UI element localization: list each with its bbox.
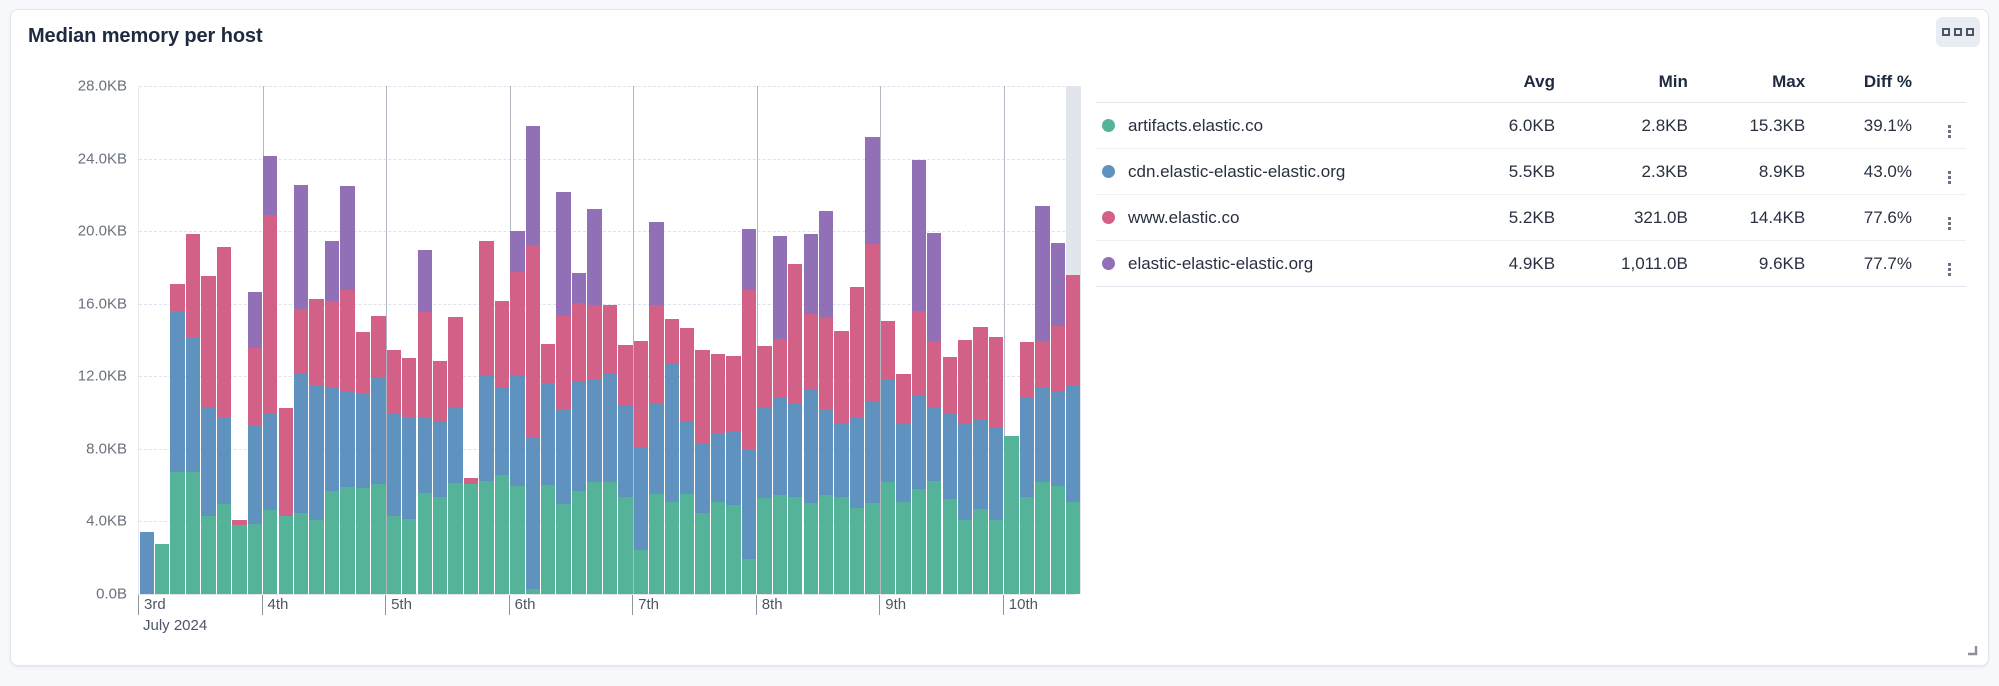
bar-segment[interactable] xyxy=(1035,387,1049,483)
drag-handle-icon[interactable] xyxy=(1948,171,1951,184)
bar-segment[interactable] xyxy=(865,137,879,244)
bar-segment[interactable] xyxy=(356,488,370,594)
bar-segment[interactable] xyxy=(371,316,385,378)
bar-segment[interactable] xyxy=(170,472,184,594)
bar-stack[interactable] xyxy=(973,86,987,594)
bar-stack[interactable] xyxy=(1066,86,1080,594)
bar-stack[interactable] xyxy=(1004,86,1018,594)
bar-segment[interactable] xyxy=(989,520,1003,594)
legend-row-grip[interactable] xyxy=(1926,103,1966,149)
bar-segment[interactable] xyxy=(804,314,818,389)
bar-segment[interactable] xyxy=(572,381,586,491)
series-diff-value: 77.7% xyxy=(1819,241,1926,287)
bar-segment[interactable] xyxy=(865,244,879,402)
bar-segment[interactable] xyxy=(912,160,926,311)
bar-segment[interactable] xyxy=(757,346,771,408)
legend-col-grip xyxy=(1926,72,1966,103)
table-row[interactable]: www.elastic.co5.2KB321.0B14.4KB77.6% xyxy=(1096,195,1966,241)
bar-segment[interactable] xyxy=(464,478,478,484)
bar-segment[interactable] xyxy=(881,321,895,379)
bar-segment[interactable] xyxy=(711,354,725,433)
bar-segment[interactable] xyxy=(587,379,601,483)
bar-segment[interactable] xyxy=(556,192,570,316)
bar-segment[interactable] xyxy=(479,481,493,594)
bar-segment[interactable] xyxy=(340,487,354,594)
bar-segment[interactable] xyxy=(989,428,1003,519)
bar-segment[interactable] xyxy=(479,241,493,376)
bar-segment[interactable] xyxy=(248,348,262,425)
bar-stack[interactable] xyxy=(927,86,941,594)
legend-series-cell[interactable]: www.elastic.co xyxy=(1096,195,1465,241)
bar-segment[interactable] xyxy=(448,317,462,408)
legend-series-cell[interactable]: artifacts.elastic.co xyxy=(1096,103,1465,149)
bar-stack[interactable] xyxy=(711,86,725,594)
bar-segment[interactable] xyxy=(618,497,632,594)
bar-stack[interactable] xyxy=(155,86,169,594)
bar-stack[interactable] xyxy=(294,86,308,594)
legend-col-max[interactable]: Max xyxy=(1702,72,1819,103)
bar-stack[interactable] xyxy=(418,86,432,594)
bar-segment[interactable] xyxy=(309,385,323,521)
bar-segment[interactable] xyxy=(556,316,570,409)
bar-segment[interactable] xyxy=(248,425,262,524)
bar-segment[interactable] xyxy=(819,410,833,495)
bar-segment[interactable] xyxy=(418,417,432,493)
bar-segment[interactable] xyxy=(757,498,771,594)
bar-segment[interactable] xyxy=(387,413,401,516)
bar-segment[interactable] xyxy=(665,364,679,502)
bar-segment[interactable] xyxy=(788,264,802,402)
bar-segment[interactable] xyxy=(819,211,833,316)
bar-segment[interactable] xyxy=(1035,206,1049,341)
bar-segment[interactable] xyxy=(464,484,478,594)
bar-segment[interactable] xyxy=(912,489,926,594)
bar-segment[interactable] xyxy=(279,516,293,594)
bar-stack[interactable] xyxy=(201,86,215,594)
bar-segment[interactable] xyxy=(927,233,941,341)
bar-segment[interactable] xyxy=(248,292,262,348)
legend-col-diff[interactable]: Diff % xyxy=(1819,72,1926,103)
y-axis-tick-label: 16.0KB xyxy=(78,295,127,312)
bar-segment[interactable] xyxy=(587,305,601,379)
bar-stack[interactable] xyxy=(742,86,756,594)
bar-segment[interactable] xyxy=(804,234,818,314)
bar-stack[interactable] xyxy=(217,86,231,594)
bar-segment[interactable] xyxy=(711,433,725,502)
legend-row-grip[interactable] xyxy=(1926,149,1966,195)
bar-segment[interactable] xyxy=(958,424,972,520)
bar-stack[interactable] xyxy=(572,86,586,594)
bar-segment[interactable] xyxy=(804,503,818,594)
bar-segment[interactable] xyxy=(680,421,694,494)
bar-stack[interactable] xyxy=(479,86,493,594)
bar-segment[interactable] xyxy=(340,391,354,487)
bar-segment[interactable] xyxy=(1004,436,1018,594)
bar-segment[interactable] xyxy=(294,185,308,309)
bar-segment[interactable] xyxy=(510,272,524,376)
bar-segment[interactable] xyxy=(263,413,277,510)
bar-stack[interactable] xyxy=(526,86,540,594)
bar-segment[interactable] xyxy=(1051,392,1065,486)
legend-row-grip[interactable] xyxy=(1926,195,1966,241)
bar-segment[interactable] xyxy=(742,290,756,449)
series-max-value: 8.9KB xyxy=(1702,149,1819,195)
bar-segment[interactable] xyxy=(788,497,802,594)
legend-table: Avg Min Max Diff % artifacts.elastic.co6… xyxy=(1096,72,1966,287)
bar-segment[interactable] xyxy=(433,361,447,421)
bar-segment[interactable] xyxy=(773,236,787,339)
bar-segment[interactable] xyxy=(448,408,462,483)
bar-segment[interactable] xyxy=(510,231,524,272)
bar-segment[interactable] xyxy=(943,357,957,414)
bar-segment[interactable] xyxy=(881,482,895,594)
bar-segment[interactable] xyxy=(402,358,416,416)
bar-segment[interactable] xyxy=(1051,486,1065,594)
bar-stack[interactable] xyxy=(279,86,293,594)
bar-stack[interactable] xyxy=(881,86,895,594)
bar-segment[interactable] xyxy=(217,247,231,417)
bar-segment[interactable] xyxy=(742,229,756,290)
bar-segment[interactable] xyxy=(896,423,910,502)
bar-segment[interactable] xyxy=(927,481,941,594)
y-axis-tick-label: 4.0KB xyxy=(86,513,127,530)
bar-segment[interactable] xyxy=(387,516,401,594)
bar-segment[interactable] xyxy=(340,186,354,291)
series-color-dot-icon[interactable] xyxy=(1102,211,1115,224)
grip-dot xyxy=(1948,125,1951,128)
bar-stack[interactable] xyxy=(634,86,648,594)
bar-segment[interactable] xyxy=(958,520,972,594)
bar-segment[interactable] xyxy=(340,290,354,391)
bar-stack[interactable] xyxy=(850,86,864,594)
bar-stack[interactable] xyxy=(912,86,926,594)
bar-segment[interactable] xyxy=(541,485,555,594)
bar-segment[interactable] xyxy=(587,209,601,306)
bar-segment[interactable] xyxy=(649,403,663,494)
legend-col-min[interactable]: Min xyxy=(1569,72,1702,103)
bar-segment[interactable] xyxy=(556,504,570,594)
bar-segment[interactable] xyxy=(201,276,215,407)
bar-stack[interactable] xyxy=(340,86,354,594)
bar-segment[interactable] xyxy=(556,409,570,504)
bar-stack[interactable] xyxy=(387,86,401,594)
bar-segment[interactable] xyxy=(1066,385,1080,502)
bar-segment[interactable] xyxy=(865,503,879,594)
bar-stack[interactable] xyxy=(510,86,524,594)
bar-segment[interactable] xyxy=(603,374,617,482)
bar-segment[interactable] xyxy=(325,491,339,594)
bar-segment[interactable] xyxy=(726,432,740,506)
bar-segment[interactable] xyxy=(418,250,432,312)
bar-stack[interactable] xyxy=(495,86,509,594)
drag-handle-icon[interactable] xyxy=(1948,125,1951,138)
bar-segment[interactable] xyxy=(896,374,910,423)
bar-segment[interactable] xyxy=(495,475,509,594)
bar-stack[interactable] xyxy=(170,86,184,594)
legend-series-cell[interactable]: elastic-elastic-elastic.org xyxy=(1096,241,1465,287)
bar-stack[interactable] xyxy=(695,86,709,594)
bar-segment[interactable] xyxy=(510,375,524,486)
bar-stack[interactable] xyxy=(757,86,771,594)
bar-segment[interactable] xyxy=(263,156,277,215)
bar-segment[interactable] xyxy=(1035,482,1049,594)
bar-stack[interactable] xyxy=(726,86,740,594)
bar-segment[interactable] xyxy=(186,472,200,594)
series-max-value: 14.4KB xyxy=(1702,195,1819,241)
bar-stack[interactable] xyxy=(587,86,601,594)
bar-segment[interactable] xyxy=(526,437,540,588)
bar-segment[interactable] xyxy=(989,337,1003,428)
drag-handle-icon[interactable] xyxy=(1948,263,1951,276)
bar-segment[interactable] xyxy=(1020,497,1034,594)
series-color-dot-icon[interactable] xyxy=(1102,165,1115,178)
bar-stack[interactable] xyxy=(556,86,570,594)
bar-segment[interactable] xyxy=(479,375,493,480)
bar-segment[interactable] xyxy=(1066,275,1080,385)
bar-segment[interactable] xyxy=(850,417,864,508)
bar-stack[interactable] xyxy=(402,86,416,594)
bar-segment[interactable] xyxy=(958,340,972,424)
bar-stack[interactable] xyxy=(618,86,632,594)
bar-stack[interactable] xyxy=(680,86,694,594)
table-row[interactable]: cdn.elastic-elastic-elastic.org5.5KB2.3K… xyxy=(1096,149,1966,195)
bar-segment[interactable] xyxy=(1020,397,1034,496)
bar-segment[interactable] xyxy=(695,443,709,512)
bar-stack[interactable] xyxy=(356,86,370,594)
grid-menu-icon[interactable] xyxy=(1936,17,1980,47)
bar-segment[interactable] xyxy=(402,417,416,519)
bar-segment[interactable] xyxy=(726,356,740,432)
bar-segment[interactable] xyxy=(603,482,617,594)
bar-stack[interactable] xyxy=(541,86,555,594)
bar-segment[interactable] xyxy=(201,407,215,516)
bar-stack[interactable] xyxy=(896,86,910,594)
bar-segment[interactable] xyxy=(294,309,308,374)
bar-segment[interactable] xyxy=(263,215,277,413)
bar-stack[interactable] xyxy=(788,86,802,594)
bar-stack[interactable] xyxy=(232,86,246,594)
bar-segment[interactable] xyxy=(680,494,694,594)
bar-segment[interactable] xyxy=(711,502,725,594)
resize-corner-icon[interactable] xyxy=(1964,643,1978,657)
bar-segment[interactable] xyxy=(1066,502,1080,594)
bar-segment[interactable] xyxy=(618,345,632,406)
bar-segment[interactable] xyxy=(433,497,447,594)
bar-stack[interactable] xyxy=(309,86,323,594)
bar-stack[interactable] xyxy=(433,86,447,594)
bar-stack[interactable] xyxy=(649,86,663,594)
bar-segment[interactable] xyxy=(572,303,586,381)
bar-segment[interactable] xyxy=(773,397,787,494)
bar-stack[interactable] xyxy=(371,86,385,594)
bar-segment[interactable] xyxy=(232,525,246,594)
bar-segment[interactable] xyxy=(973,509,987,594)
bar-segment[interactable] xyxy=(495,301,509,388)
bar-segment[interactable] xyxy=(309,520,323,594)
bar-stack[interactable] xyxy=(1051,86,1065,594)
bar-stack[interactable] xyxy=(1035,86,1049,594)
bar-stack[interactable] xyxy=(958,86,972,594)
bar-segment[interactable] xyxy=(973,419,987,509)
bar-stack[interactable] xyxy=(186,86,200,594)
bar-segment[interactable] xyxy=(742,450,756,559)
bar-segment[interactable] xyxy=(788,403,802,497)
bar-segment[interactable] xyxy=(865,402,879,503)
series-color-dot-icon[interactable] xyxy=(1102,257,1115,270)
bar-segment[interactable] xyxy=(834,497,848,594)
bar-segment[interactable] xyxy=(526,126,540,245)
table-row[interactable]: elastic-elastic-elastic.org4.9KB1,011.0B… xyxy=(1096,241,1966,287)
bar-segment[interactable] xyxy=(634,550,648,594)
bar-segment[interactable] xyxy=(726,505,740,594)
bar-segment[interactable] xyxy=(757,408,771,498)
legend-col-avg[interactable]: Avg xyxy=(1465,72,1569,103)
bar-segment[interactable] xyxy=(834,331,848,423)
bar-segment[interactable] xyxy=(294,513,308,594)
dashboard-root: Median memory per host 28.0KB24.0KB20.0K… xyxy=(0,0,1999,686)
bar-segment[interactable] xyxy=(418,493,432,594)
bar-segment[interactable] xyxy=(279,408,293,516)
x-axis-tick-label: 6th xyxy=(509,595,536,615)
bar-segment[interactable] xyxy=(541,383,555,485)
bar-segment[interactable] xyxy=(186,337,200,472)
bar-segment[interactable] xyxy=(649,494,663,594)
bar-segment[interactable] xyxy=(773,339,787,397)
bar-segment[interactable] xyxy=(1051,243,1065,326)
bar-stack[interactable] xyxy=(464,86,478,594)
bar-segment[interactable] xyxy=(680,328,694,421)
bar-stack[interactable] xyxy=(248,86,262,594)
bar-segment[interactable] xyxy=(572,491,586,594)
series-color-dot-icon[interactable] xyxy=(1102,119,1115,132)
bar-segment[interactable] xyxy=(541,344,555,383)
bar-segment[interactable] xyxy=(495,388,509,476)
bar-segment[interactable] xyxy=(217,504,231,594)
y-axis-tick-label: 20.0KB xyxy=(78,223,127,240)
bar-segment[interactable] xyxy=(927,408,941,481)
bar-stack[interactable] xyxy=(773,86,787,594)
bar-segment[interactable] xyxy=(819,317,833,410)
bar-segment[interactable] xyxy=(927,341,941,408)
legend-col-name xyxy=(1096,72,1465,103)
bar-stack[interactable] xyxy=(448,86,462,594)
bar-segment[interactable] xyxy=(140,532,154,594)
grip-dot xyxy=(1948,176,1951,179)
bar-segment[interactable] xyxy=(665,502,679,594)
bar-segment[interactable] xyxy=(356,394,370,488)
bar-segment[interactable] xyxy=(418,312,432,417)
bar-segment[interactable] xyxy=(186,234,200,337)
bar-segment[interactable] xyxy=(201,516,215,594)
bar-segment[interactable] xyxy=(943,499,957,594)
bar-segment[interactable] xyxy=(742,559,756,594)
bar-segment[interactable] xyxy=(695,513,709,595)
bar-segment[interactable] xyxy=(325,387,339,492)
series-max-value: 15.3KB xyxy=(1702,103,1819,149)
bar-segment[interactable] xyxy=(912,311,926,396)
bar-segment[interactable] xyxy=(170,311,184,472)
bar-segment[interactable] xyxy=(325,301,339,387)
bar-segment[interactable] xyxy=(587,482,601,594)
table-row[interactable]: artifacts.elastic.co6.0KB2.8KB15.3KB39.1… xyxy=(1096,103,1966,149)
grid-menu-square xyxy=(1954,28,1962,36)
bar-segment[interactable] xyxy=(973,327,987,418)
legend-row-grip[interactable] xyxy=(1926,241,1966,287)
bar-stack[interactable] xyxy=(804,86,818,594)
bar-segment[interactable] xyxy=(1035,341,1049,387)
bar-stack[interactable] xyxy=(943,86,957,594)
bar-segment[interactable] xyxy=(263,510,277,594)
bar-segment[interactable] xyxy=(804,389,818,502)
bar-segment[interactable] xyxy=(819,495,833,594)
bar-segment[interactable] xyxy=(1020,342,1034,398)
bar-stack[interactable] xyxy=(834,86,848,594)
bar-segment[interactable] xyxy=(695,350,709,444)
bar-segment[interactable] xyxy=(881,380,895,483)
bar-stack[interactable] xyxy=(989,86,1003,594)
chart-container: 28.0KB24.0KB20.0KB16.0KB12.0KB8.0KB4.0KB… xyxy=(35,72,1075,642)
bar-stack[interactable] xyxy=(140,86,154,594)
bar-segment[interactable] xyxy=(634,341,648,447)
bar-segment[interactable] xyxy=(649,222,663,305)
drag-handle-icon[interactable] xyxy=(1948,217,1951,230)
bar-segment[interactable] xyxy=(433,421,447,496)
bar-segment[interactable] xyxy=(387,350,401,414)
grip-dot xyxy=(1948,263,1951,266)
bar-segment[interactable] xyxy=(325,241,339,300)
bar-segment[interactable] xyxy=(526,245,540,437)
bar-stack[interactable] xyxy=(263,86,277,594)
bar-segment[interactable] xyxy=(356,332,370,394)
x-axis-tick-label: 9th xyxy=(879,595,906,615)
bar-segment[interactable] xyxy=(850,508,864,594)
bar-segment[interactable] xyxy=(912,396,926,490)
bar-segment[interactable] xyxy=(850,287,864,417)
bar-segment[interactable] xyxy=(603,305,617,374)
bar-segment[interactable] xyxy=(309,299,323,385)
plot-area[interactable] xyxy=(138,86,1075,594)
bar-segment[interactable] xyxy=(834,423,848,497)
bar-segment[interactable] xyxy=(649,305,663,402)
bar-stack[interactable] xyxy=(1020,86,1034,594)
bar-stack[interactable] xyxy=(603,86,617,594)
legend-series-cell[interactable]: cdn.elastic-elastic-elastic.org xyxy=(1096,149,1465,195)
bar-segment[interactable] xyxy=(943,414,957,499)
bar-segment[interactable] xyxy=(155,544,169,594)
bar-segment[interactable] xyxy=(773,495,787,594)
bar-stack[interactable] xyxy=(665,86,679,594)
bar-segment[interactable] xyxy=(1051,326,1065,392)
bar-segment[interactable] xyxy=(217,417,231,504)
bar-segment[interactable] xyxy=(294,373,308,513)
bar-segment[interactable] xyxy=(510,486,524,594)
bar-segment[interactable] xyxy=(665,319,679,363)
bar-segment[interactable] xyxy=(448,483,462,594)
bar-stack[interactable] xyxy=(325,86,339,594)
bar-segment[interactable] xyxy=(634,447,648,550)
bar-segment[interactable] xyxy=(371,484,385,594)
bar-stack[interactable] xyxy=(819,86,833,594)
bar-segment[interactable] xyxy=(618,406,632,496)
bar-stack[interactable] xyxy=(865,86,879,594)
bar-segment[interactable] xyxy=(232,520,246,525)
bar-segment[interactable] xyxy=(248,524,262,594)
bar-segment[interactable] xyxy=(402,519,416,594)
bar-segment[interactable] xyxy=(371,378,385,484)
bar-segment[interactable] xyxy=(170,284,184,311)
bar-segment[interactable] xyxy=(572,273,586,303)
bar-segment[interactable] xyxy=(896,502,910,594)
